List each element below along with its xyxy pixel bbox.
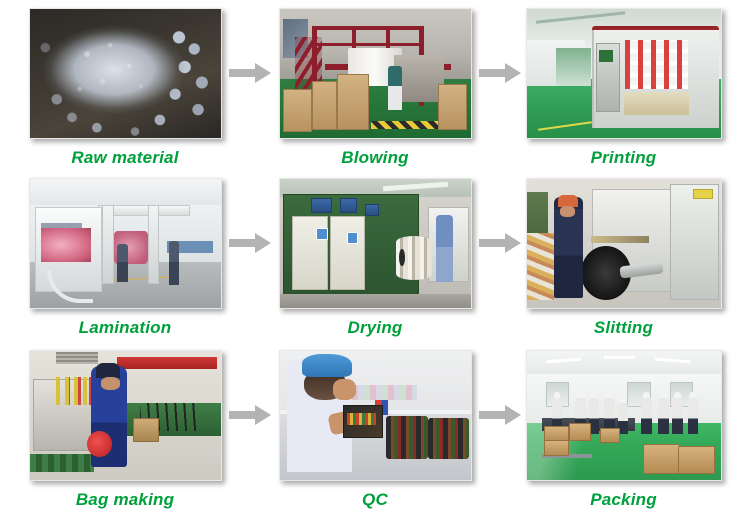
process-step-label-bag-making: Bag making <box>76 490 174 510</box>
process-step-label-slitting: Slitting <box>594 318 653 338</box>
process-step-label-raw-material: Raw material <box>71 148 178 168</box>
process-flow-diagram: Raw material Blowing <box>0 0 747 521</box>
process-step-blowing[interactable]: Blowing <box>250 0 500 170</box>
process-step-label-packing: Packing <box>590 490 657 510</box>
photo-raw-material-pellets <box>30 9 221 138</box>
process-step-photo-lamination[interactable] <box>29 178 222 309</box>
process-step-label-drying: Drying <box>347 318 402 338</box>
process-step-qc[interactable]: QC <box>250 342 500 521</box>
process-step-photo-qc[interactable] <box>279 350 472 481</box>
photo-drying-ovens <box>280 179 471 308</box>
photo-slitting-machine <box>527 179 721 308</box>
process-step-photo-drying[interactable] <box>279 178 472 309</box>
process-step-label-lamination: Lamination <box>79 318 172 338</box>
process-step-printing[interactable]: Printing <box>500 0 747 170</box>
photo-printing-press <box>527 9 721 138</box>
process-step-photo-packing[interactable] <box>526 350 722 481</box>
process-step-photo-raw-material[interactable] <box>29 8 222 139</box>
process-step-label-blowing: Blowing <box>341 148 409 168</box>
process-step-label-qc: QC <box>362 490 388 510</box>
process-step-drying[interactable]: Drying <box>250 170 500 342</box>
process-step-bag-making[interactable]: Bag making <box>0 342 250 521</box>
process-step-photo-bag-making[interactable] <box>29 350 222 481</box>
process-step-label-printing: Printing <box>591 148 657 168</box>
photo-blowing-machine <box>280 9 471 138</box>
process-step-photo-printing[interactable] <box>526 8 722 139</box>
process-step-raw-material[interactable]: Raw material <box>0 0 250 170</box>
process-step-lamination[interactable]: Lamination <box>0 170 250 342</box>
photo-quality-inspection <box>280 351 471 480</box>
process-step-packing[interactable]: Packing <box>500 342 747 521</box>
process-step-slitting[interactable]: Slitting <box>500 170 747 342</box>
process-step-photo-slitting[interactable] <box>526 178 722 309</box>
photo-packing-hall <box>527 351 721 480</box>
process-step-photo-blowing[interactable] <box>279 8 472 139</box>
photo-bag-making-line <box>30 351 221 480</box>
photo-lamination-machine <box>30 179 221 308</box>
